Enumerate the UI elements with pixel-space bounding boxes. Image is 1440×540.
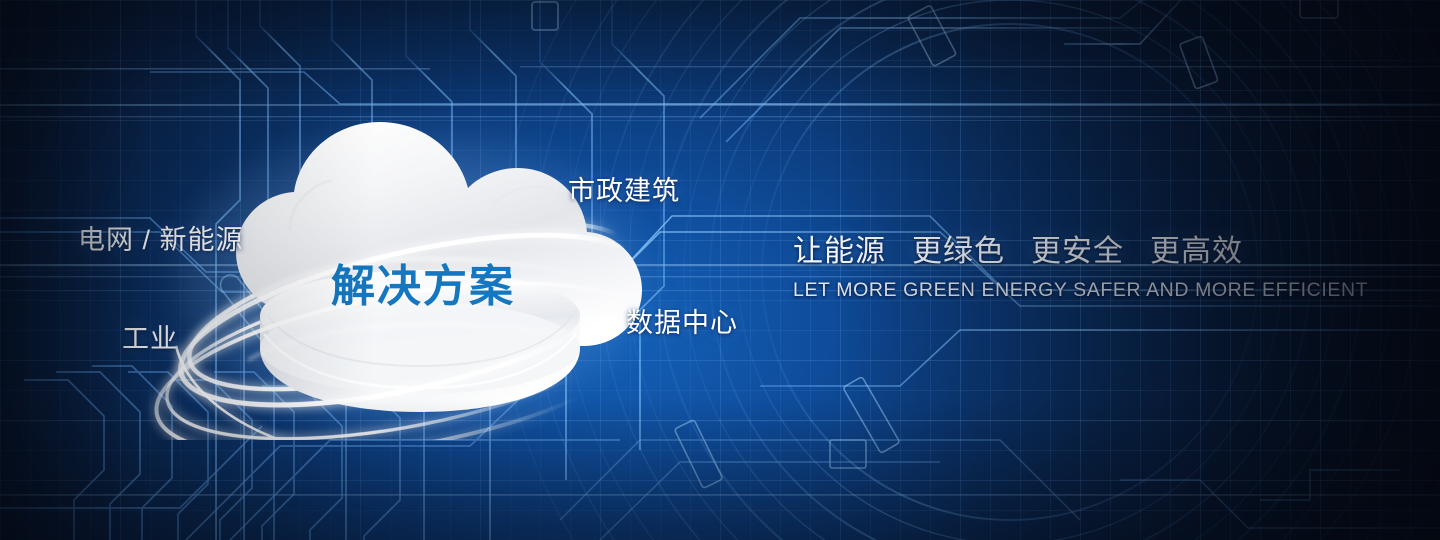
slogan-block: 让能源更绿色更安全更高效 LET MORE GREEN ENERGY SAFER… [793, 226, 1333, 302]
slogan-part-4: 更高效 [1150, 235, 1243, 268]
slogan-part-3: 更安全 [1031, 235, 1124, 268]
circuit-traces-bottomright [560, 440, 1440, 540]
label-grid-new-energy: 电网 / 新能源 [78, 218, 244, 257]
solution-banner: 解决方案 电网 / 新能源 工业 市政建筑 数据中心 让能源更绿色更安全更高效 … [0, 0, 1440, 540]
slogan-part-2: 更绿色 [912, 235, 1005, 268]
slogan-english: LET MORE GREEN ENERGY SAFER AND MORE EFF… [793, 279, 1333, 302]
slogan-part-1: 让能源 [793, 235, 886, 268]
label-data-center: 数据中心 [626, 301, 738, 340]
label-industry: 工业 [122, 317, 178, 356]
page-title: 解决方案 [331, 250, 515, 314]
slogan-chinese: 让能源更绿色更安全更高效 [793, 226, 1333, 270]
label-municipal: 市政建筑 [568, 169, 680, 208]
